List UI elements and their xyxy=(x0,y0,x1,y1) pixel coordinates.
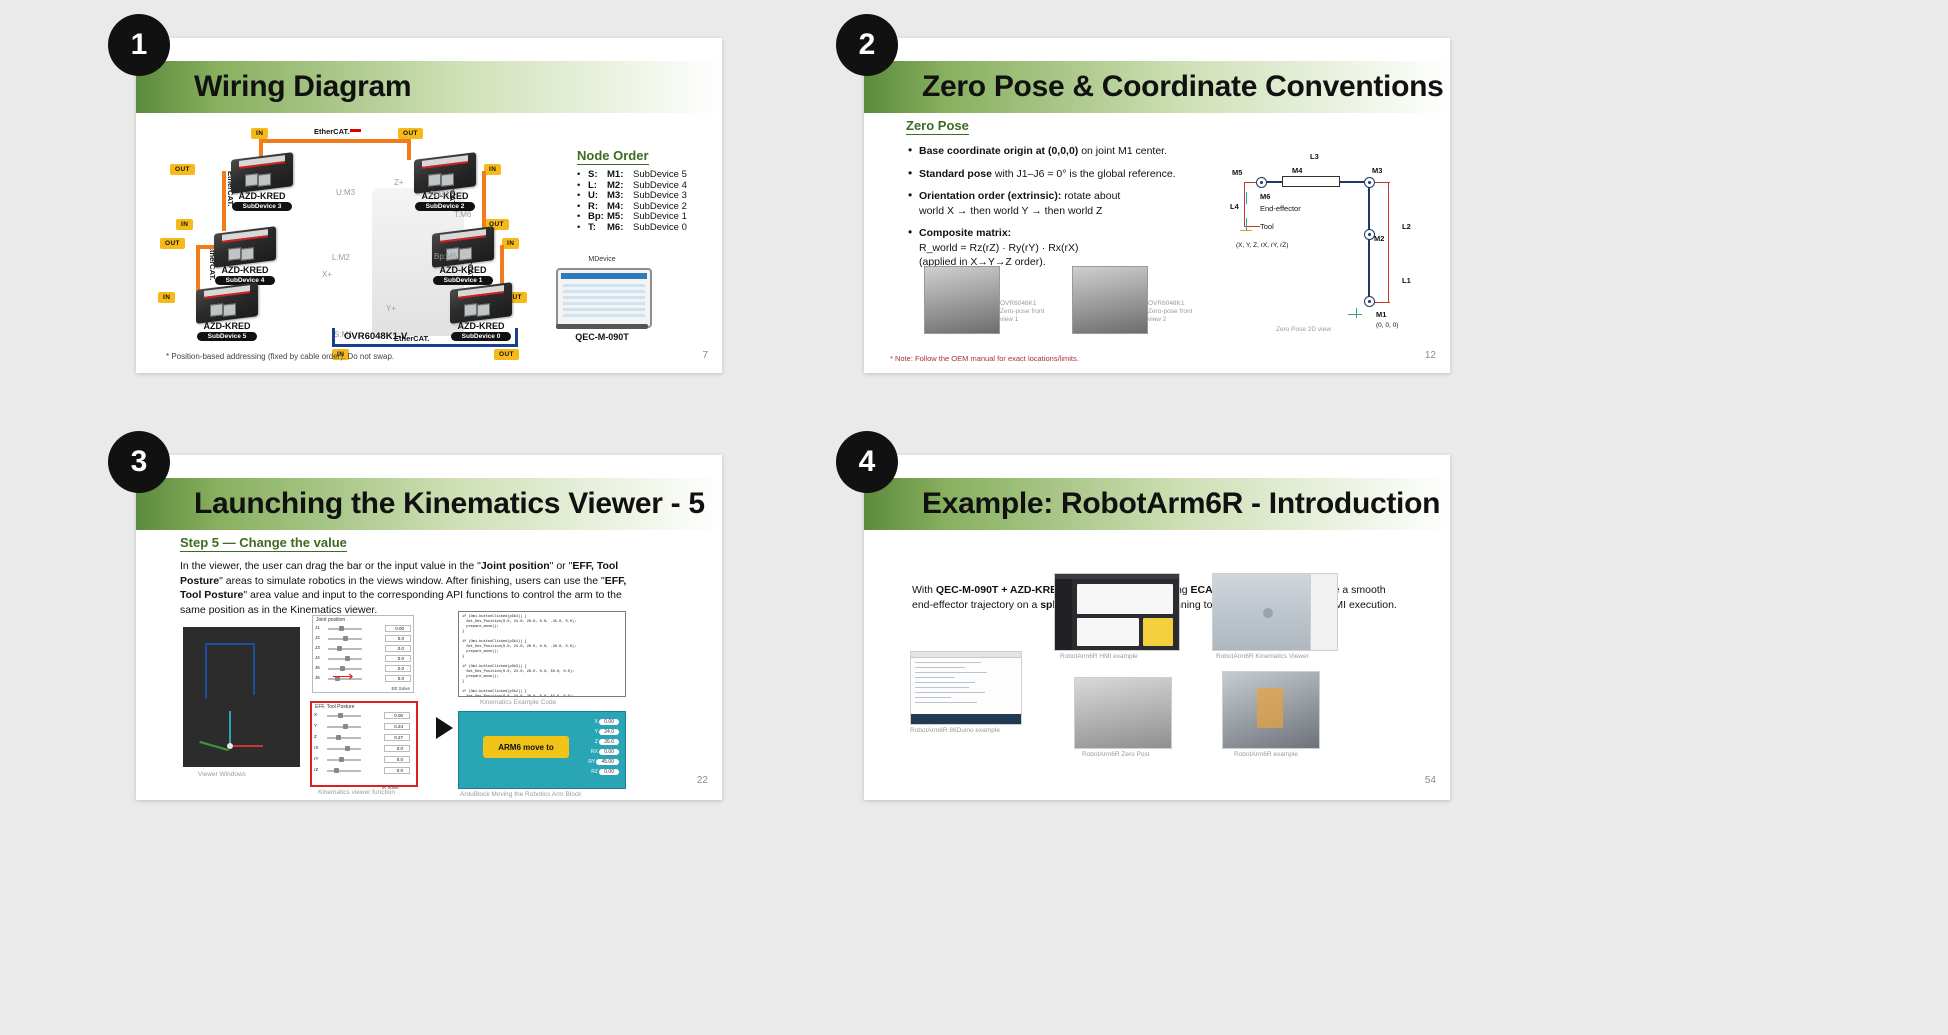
slide-4-page-number: 54 xyxy=(1425,775,1436,786)
kin-axis-z3 xyxy=(1356,308,1357,318)
kin-label-pose-vector: (X, Y, Z, rX, rY, rZ) xyxy=(1236,242,1288,249)
kin-label-L2: L2 xyxy=(1402,222,1411,231)
device-subdevice-badge: SubDevice 0 xyxy=(451,332,511,341)
zero-pose-photo-2-caption: OVR6048K1 Zero-pose front view 2 xyxy=(1148,300,1192,324)
thumb-86duino[interactable] xyxy=(910,651,1022,725)
slide-2-badge: 2 xyxy=(836,14,898,76)
thumb-kinematics-viewer[interactable] xyxy=(1212,573,1338,651)
port-pill-in-top: IN xyxy=(251,128,268,139)
joint-tag-r-m4: R:M4 xyxy=(430,190,449,199)
joint-row: J30.0 xyxy=(313,645,413,652)
kin-label-origin: (0, 0, 0) xyxy=(1376,322,1398,329)
thumb-hmi[interactable] xyxy=(1054,573,1180,651)
node-order-list: •S:M1:SubDevice 5 •L:M2:SubDevice 4 •U:M… xyxy=(577,170,687,234)
kin-label-M5: M5 xyxy=(1232,168,1242,177)
slide-3-title-bar: Launching the Kinematics Viewer - 5 xyxy=(136,478,722,530)
device-subdevice-3[interactable]: AZD-KRED SubDevice 3 xyxy=(231,156,293,190)
joint-tag-bp-m5: Bp:M5 xyxy=(434,252,457,261)
kinematics-function-caption: Kinematics viewer function xyxy=(318,789,395,797)
code-caption: Kinematics Example Code xyxy=(480,699,556,707)
slide-3[interactable]: Launching the Kinematics Viewer - 5 Step… xyxy=(136,455,722,800)
kin-label-end-effector: End-effector xyxy=(1260,204,1301,213)
joint-panel-footer: EE Solve xyxy=(391,686,410,691)
joint-panel-title: Joint position xyxy=(313,616,413,624)
slide-4-title-bar: Example: RobotArm6R - Introduction xyxy=(864,478,1450,530)
device-subdevice-5[interactable]: AZD-KRED SubDevice 5 xyxy=(196,286,258,320)
node-order-item: •T:M6:SubDevice 0 xyxy=(577,223,687,234)
mdevice-label: MDevice xyxy=(556,256,648,263)
zero-pose-bullets: Base coordinate origin at (0,0,0) on joi… xyxy=(906,144,1196,278)
slide-1-badge: 1 xyxy=(108,14,170,76)
device-subdevice-badge: SubDevice 5 xyxy=(197,332,257,341)
kin-label-L3: L3 xyxy=(1310,152,1319,161)
device-label: AZD-KRED xyxy=(217,191,307,201)
kin-axis-y1 xyxy=(1348,314,1362,315)
slide-1-footnote: * Position-based addressing (fixed by ca… xyxy=(166,352,394,361)
eff-row: rX0.0 xyxy=(312,745,412,752)
kin-axis-x1 xyxy=(1240,230,1252,231)
kin-label-L4: L4 xyxy=(1230,202,1239,211)
joint-row: J10.00 xyxy=(313,625,413,632)
slide-2-page-number: 12 xyxy=(1425,350,1436,361)
ardublock-fields: X 0.00 Y 24.0 Z 26.0 RX 0.00 RY 45.00 RZ… xyxy=(588,717,619,777)
kin-axis-z2 xyxy=(1246,218,1247,230)
thumb-example-caption: RobotArm6R example xyxy=(1234,751,1298,758)
device-label: AZD-KRED xyxy=(418,265,508,275)
device-label: AZD-KRED xyxy=(436,321,526,331)
slide-1-title-bar: Wiring Diagram xyxy=(136,61,722,113)
kin-label-M4: M4 xyxy=(1292,166,1302,175)
slide-3-title: Launching the Kinematics Viewer - 5 xyxy=(194,487,705,521)
joint-position-panel[interactable]: Joint position J10.00 J20.0 J30.0 J40.0 … xyxy=(312,615,414,693)
port-pill-out-l1: OUT xyxy=(170,164,195,175)
joint-row: J20.0 xyxy=(313,635,413,642)
bullet-item: Standard pose with J1–J6 = 0° is the glo… xyxy=(906,167,1196,182)
eff-panel-title: EFF, Tool Posture xyxy=(312,703,412,711)
device-subdevice-2[interactable]: AZD-KRED SubDevice 2 xyxy=(414,156,476,190)
kin-axis-z1 xyxy=(1246,192,1247,204)
zero-pose-photo-1-caption: OVR6048K1 Zero-pose front view 1 xyxy=(1000,300,1044,324)
slide-2-title: Zero Pose & Coordinate Conventions xyxy=(922,70,1444,104)
joint-tag-l-m2: L:M2 xyxy=(332,253,350,262)
joint-row: J40.0 xyxy=(313,655,413,662)
device-subdevice-badge: SubDevice 1 xyxy=(433,276,493,285)
eff-row: X0.00 xyxy=(312,712,412,719)
device-subdevice-4[interactable]: AZD-KRED SubDevice 4 xyxy=(214,230,276,264)
wire-left-1 xyxy=(222,171,226,231)
joint-tag-x: X+ xyxy=(322,270,332,279)
kin-label-M6: M6 xyxy=(1260,192,1270,201)
thumb-zero-post-caption: RobotArm6R Zero Post xyxy=(1082,751,1150,758)
device-label: AZD-KRED xyxy=(200,265,290,275)
node-order-heading: Node Order xyxy=(577,148,649,165)
slide-3-page-number: 22 xyxy=(697,775,708,786)
slide-1[interactable]: Wiring Diagram IN OUT EtherCAT. OUT IN O… xyxy=(136,38,722,373)
thumb-example[interactable] xyxy=(1222,671,1320,749)
kin-arm-mid xyxy=(1368,181,1370,233)
ethercat-logo-top: EtherCAT. xyxy=(314,127,361,136)
kin-arm-lower xyxy=(1368,233,1370,301)
code-example: if (Omi.buttonClicked(p3k4)) { Set_Des_P… xyxy=(458,611,626,697)
thumb-hmi-caption: RobotArm6R HMI example xyxy=(1060,653,1138,660)
zero-pose-heading: Zero Pose xyxy=(906,118,969,135)
hmi-panel[interactable] xyxy=(556,268,652,328)
joint-tag-t-m6: T:M6 xyxy=(454,210,471,219)
port-pill-in-l2: IN xyxy=(158,292,175,303)
port-pill-in-r2: IN xyxy=(502,238,519,249)
slide-3-badge: 3 xyxy=(108,431,170,493)
slide-2-title-bar: Zero Pose & Coordinate Conventions xyxy=(864,61,1450,113)
device-subdevice-0[interactable]: AZD-KRED SubDevice 0 xyxy=(450,286,512,320)
ardublock-caption: ArduBlock Moving the Robotics Arm Block xyxy=(460,791,581,799)
eff-row: Y0.24 xyxy=(312,723,412,730)
slide-1-title: Wiring Diagram xyxy=(194,70,411,104)
wire-top-right-drop xyxy=(407,139,411,160)
bullet-item: Orientation order (extrinsic): rotate ab… xyxy=(906,189,1196,218)
slide-2-footnote: * Note: Follow the OEM manual for exact … xyxy=(890,354,1079,363)
eff-row: Z0.27 xyxy=(312,734,412,741)
viewer-window[interactable] xyxy=(183,627,300,767)
eff-row: rZ0.0 xyxy=(312,767,412,774)
wire-top xyxy=(259,139,411,143)
device-subdevice-badge: SubDevice 3 xyxy=(232,202,292,211)
joint-row: J60.0 xyxy=(313,675,413,682)
slide-2[interactable]: Zero Pose & Coordinate Conventions Zero … xyxy=(864,38,1450,373)
viewer-caption: Viewer Windows xyxy=(198,771,246,779)
ethercat-logo-bottom: EtherCAT. xyxy=(394,334,429,343)
bullet-item: Base coordinate origin at (0,0,0) on joi… xyxy=(906,144,1196,159)
kin-joint-m1 xyxy=(1364,296,1375,307)
wire-bottom-left xyxy=(332,328,335,346)
slide-3-body: In the viewer, the user can drag the bar… xyxy=(180,559,646,617)
zero-pose-2d-view: L3 L2 L1 L4 M5 M4 M3 M2 M1 M6 End-effect… xyxy=(1216,130,1432,330)
joint-tag-y: Y+ xyxy=(386,304,396,313)
ardublock-panel[interactable]: ARM6 move to X 0.00 Y 24.0 Z 26.0 RX 0.0… xyxy=(458,711,626,789)
bullet-item: Composite matrix:R_world = Rz(rZ) · Ry(r… xyxy=(906,226,1196,270)
thumb-zero-post[interactable] xyxy=(1074,677,1172,749)
slide-4-title: Example: RobotArm6R - Introduction xyxy=(922,487,1440,521)
hmi-stand xyxy=(556,324,648,329)
thumb-86duino-caption: RobotArm6R 86Duino example xyxy=(910,727,1000,734)
port-pill-out-top: OUT xyxy=(398,128,423,139)
red-arrow-pointer: ⟶ xyxy=(332,669,354,684)
port-pill-out-l2: OUT xyxy=(160,238,185,249)
wire-bottom-right xyxy=(515,328,518,346)
zero-pose-photo-2 xyxy=(1072,266,1148,334)
node-order-item: •S:M1:SubDevice 5 xyxy=(577,170,687,181)
slide-4-badge: 4 xyxy=(836,431,898,493)
joint-tag-z: Z+ xyxy=(394,178,404,187)
kin-label-M2: M2 xyxy=(1374,234,1384,243)
kin-m4-arrow xyxy=(1282,176,1340,187)
kin-caption: Zero Pose 2D view xyxy=(1276,326,1331,334)
step-heading: Step 5 — Change the value xyxy=(180,535,347,552)
hmi-model-label: QEC-M-090T xyxy=(556,332,648,342)
kin-link-right xyxy=(1388,182,1389,302)
joint-tag-u-m3: U:M3 xyxy=(336,188,355,197)
port-pill-out-bottom: OUT xyxy=(494,349,519,360)
device-label: AZD-KRED xyxy=(182,321,272,331)
port-pill-in-r1: IN xyxy=(484,164,501,175)
zero-pose-photo-1 xyxy=(924,266,1000,334)
kin-label-M3: M3 xyxy=(1372,166,1382,175)
wire-right-1 xyxy=(482,171,486,231)
joint-row: J50.0 xyxy=(313,665,413,672)
slide-grid: Wiring Diagram IN OUT EtherCAT. OUT IN O… xyxy=(0,0,1948,1035)
code-text: if (Omi.buttonClicked(p3k4)) { Set_Des_P… xyxy=(459,612,625,697)
wire-bottom-blue xyxy=(332,344,518,347)
ardublock-title: ARM6 move to xyxy=(483,736,569,758)
eff-row: rY0.0 xyxy=(312,756,412,763)
kin-label-L1: L1 xyxy=(1402,276,1411,285)
kin-label-M1: M1 xyxy=(1376,310,1386,319)
eff-panel[interactable]: EFF, Tool Posture X0.00 Y0.24 Z0.27 rX0.… xyxy=(312,703,412,781)
kin-joint-m3 xyxy=(1364,177,1375,188)
slide-4[interactable]: Example: RobotArm6R - Introduction With … xyxy=(864,455,1450,800)
flow-arrow xyxy=(436,717,453,739)
thumb-kinematics-viewer-caption: RobotArm6R Kinematics Viewer xyxy=(1216,653,1309,660)
kin-joint-m5 xyxy=(1256,177,1267,188)
slide-1-page-number: 7 xyxy=(702,350,708,361)
kin-label-tool: Tool xyxy=(1260,222,1274,231)
port-pill-in-l1: IN xyxy=(176,219,193,230)
